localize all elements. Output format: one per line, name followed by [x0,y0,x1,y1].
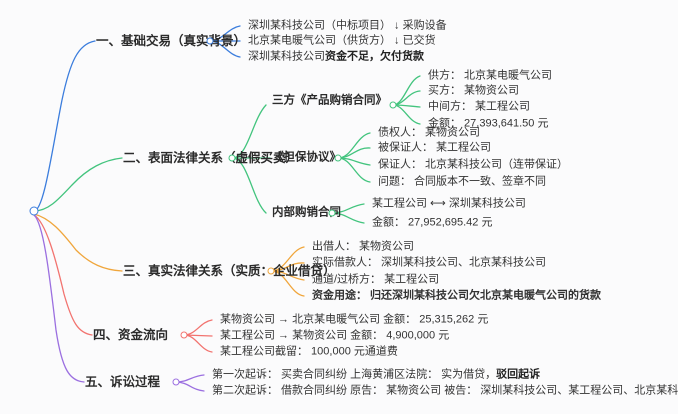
leaf-3-1[interactable]: 出借人： 某物资公司 [312,242,414,253]
root-node[interactable] [30,207,39,216]
branch-label-3[interactable]: 三、真实法律关系（实质：企业借贷） [123,265,336,278]
leaf-1-3-head: 深圳某科技公司 [248,51,325,63]
branch-label-4[interactable]: 四、资金流向 [93,329,168,342]
leaf-4-1[interactable]: 某物资公司 → 北京某电暖气公司 金额： 25,315,262 元 [220,315,488,326]
branch-label-1[interactable]: 一、基础交易（真实背景） [96,35,246,48]
leaf-2-2-4[interactable]: 问题： 合同版本不一致、签章不同 [378,177,546,188]
leaf-3-4[interactable]: 资金用途： 归还深圳某科技公司欠北京某电暖气公司的货款 [312,291,601,302]
leaf-2-1-2[interactable]: 买方： 某物资公司 [428,86,519,97]
branch-node-3[interactable] [268,268,275,275]
leaf-2-1-1[interactable]: 供方： 北京某电暖气公司 [428,71,552,82]
branch-node-5[interactable] [173,379,180,386]
mindmap-canvas: 一、基础交易（真实背景） 深圳某科技公司（中标项目） ↓ 采购设备 北京某电暖气… [0,0,678,414]
leaf-3-2[interactable]: 实际借款人： 深圳某科技公司、北京某科技公司 [312,258,546,269]
leaf-4-3[interactable]: 某工程公司截留： 100,000 元通道费 [220,347,398,358]
leaf-2-3-1[interactable]: 某工程公司 ⟷ 深圳某科技公司 [372,199,526,210]
leaf-1-1[interactable]: 深圳某科技公司（中标项目） ↓ 采购设备 [248,21,447,32]
leaf-1-3-bold: 资金不足，欠付货款 [325,51,424,63]
branch-node-1[interactable] [207,38,214,45]
branch-label-5[interactable]: 五、诉讼过程 [85,376,160,389]
leaf-5-1-text: 第一次起诉： 买卖合同纠纷 上海黄浦区法院： 实为借贷，驳回起诉 [212,369,540,381]
subnode-label-2-2[interactable]: 《担保协议》 [272,152,341,164]
subnode-label-2-1[interactable]: 三方《产品购销合同》 [272,95,387,107]
leaf-2-1-3[interactable]: 中间方： 某工程公司 [428,102,530,113]
leaf-5-1-text-bold: 驳回起诉 [496,369,540,381]
subnode-node-2-3[interactable] [329,210,336,217]
leaf-5-1[interactable]: 第一次起诉： 买卖合同纠纷 上海黄浦区法院： 实为借贷，驳回起诉 [212,370,540,381]
leaf-2-2-1[interactable]: 债权人： 某物资公司 [378,128,480,139]
leaf-1-3[interactable]: 深圳某科技公司资金不足，欠付货款 [248,52,424,63]
leaf-1-2[interactable]: 北京某电暖气公司（供货方） ↓ 已交货 [248,36,436,47]
subnode-node-2-1[interactable] [390,102,397,109]
branch-node-4[interactable] [181,332,188,339]
leaf-2-3-2[interactable]: 金额： 27,952,695.42 元 [372,218,492,229]
leaf-5-2[interactable]: 第二次起诉： 借款合同纠纷 原告： 某物资公司 被告： 深圳某科技公司、某工程公… [212,386,678,397]
leaf-4-2[interactable]: 某工程公司 → 某物资公司 金额： 4,900,000 元 [220,331,449,342]
subnode-node-2-2[interactable] [335,155,342,162]
leaf-2-2-2[interactable]: 被保证人： 某工程公司 [378,143,491,154]
leaf-3-3[interactable]: 通道/过桥方： 某工程公司 [312,275,439,286]
branch-node-2[interactable] [229,155,236,162]
leaf-2-2-3[interactable]: 保证人： 北京某科技公司（连带保证） [378,160,568,171]
